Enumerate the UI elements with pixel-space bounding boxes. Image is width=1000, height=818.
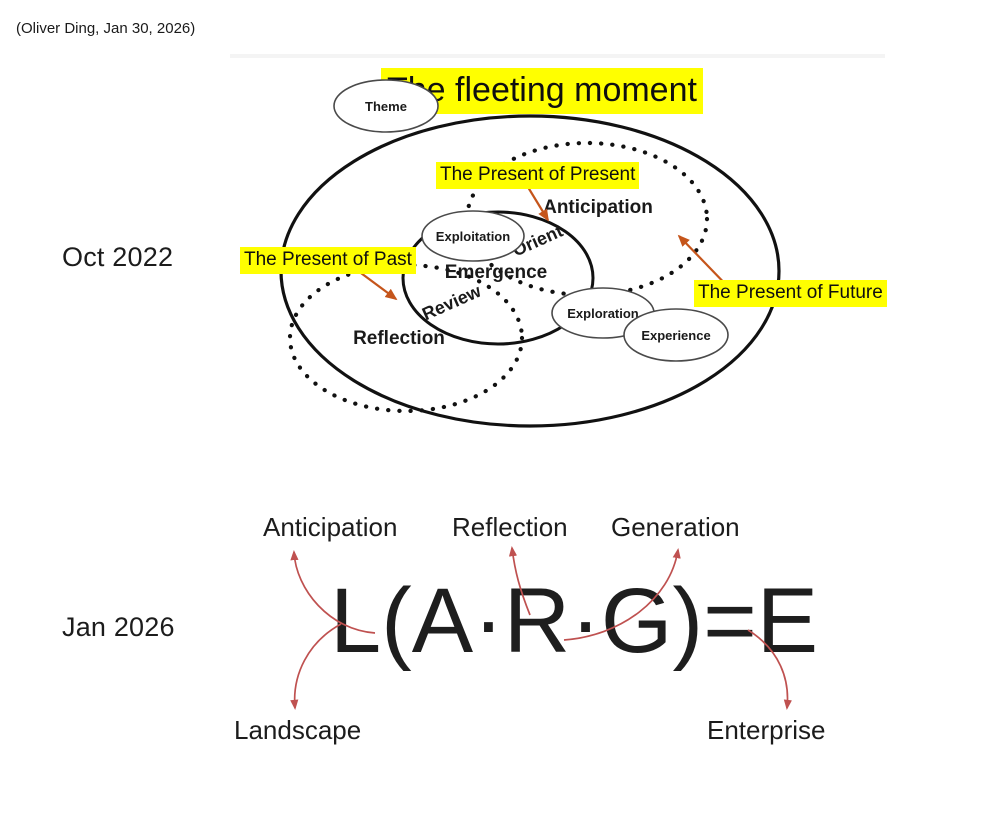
svg-text:Exploitation: Exploitation (436, 229, 510, 244)
zone-label-reflection: Reflection (353, 328, 445, 349)
callout-label-reflection: Reflection (452, 512, 568, 543)
callout-label-anticipation: Anticipation (263, 512, 397, 543)
callout-arrow-landscape (295, 624, 341, 708)
callout-arrow-generation (564, 550, 678, 640)
callout-label-landscape: Landscape (234, 715, 361, 746)
svg-text:Theme: Theme (365, 99, 407, 114)
svg-text:Experience: Experience (641, 328, 710, 343)
callout-arrow-reflection (512, 548, 530, 615)
zone-label-anticipation: Anticipation (543, 197, 653, 218)
callout-label-generation: Generation (611, 512, 740, 543)
zone-label-emergence: Emergence (445, 262, 547, 283)
svg-text:Exploration: Exploration (567, 306, 639, 321)
byline: (Oliver Ding, Jan 30, 2026) (16, 20, 195, 37)
timeline-label-jan-2026: Jan 2026 (62, 612, 175, 643)
callout-label-enterprise: Enterprise (707, 715, 826, 746)
annotation-present-of-future: The Present of Future (694, 280, 887, 307)
annotation-present-of-present: The Present of Present (436, 162, 639, 189)
callout-arrow-anticipation (294, 552, 375, 633)
annotation-present-of-past: The Present of Past (240, 247, 416, 274)
node-exploitation: Exploitation (422, 211, 524, 261)
node-theme: Theme (334, 80, 438, 132)
node-experience: Experience (624, 309, 728, 361)
timeline-label-oct-2022: Oct 2022 (62, 242, 173, 273)
callout-arrow-enterprise (748, 630, 788, 708)
